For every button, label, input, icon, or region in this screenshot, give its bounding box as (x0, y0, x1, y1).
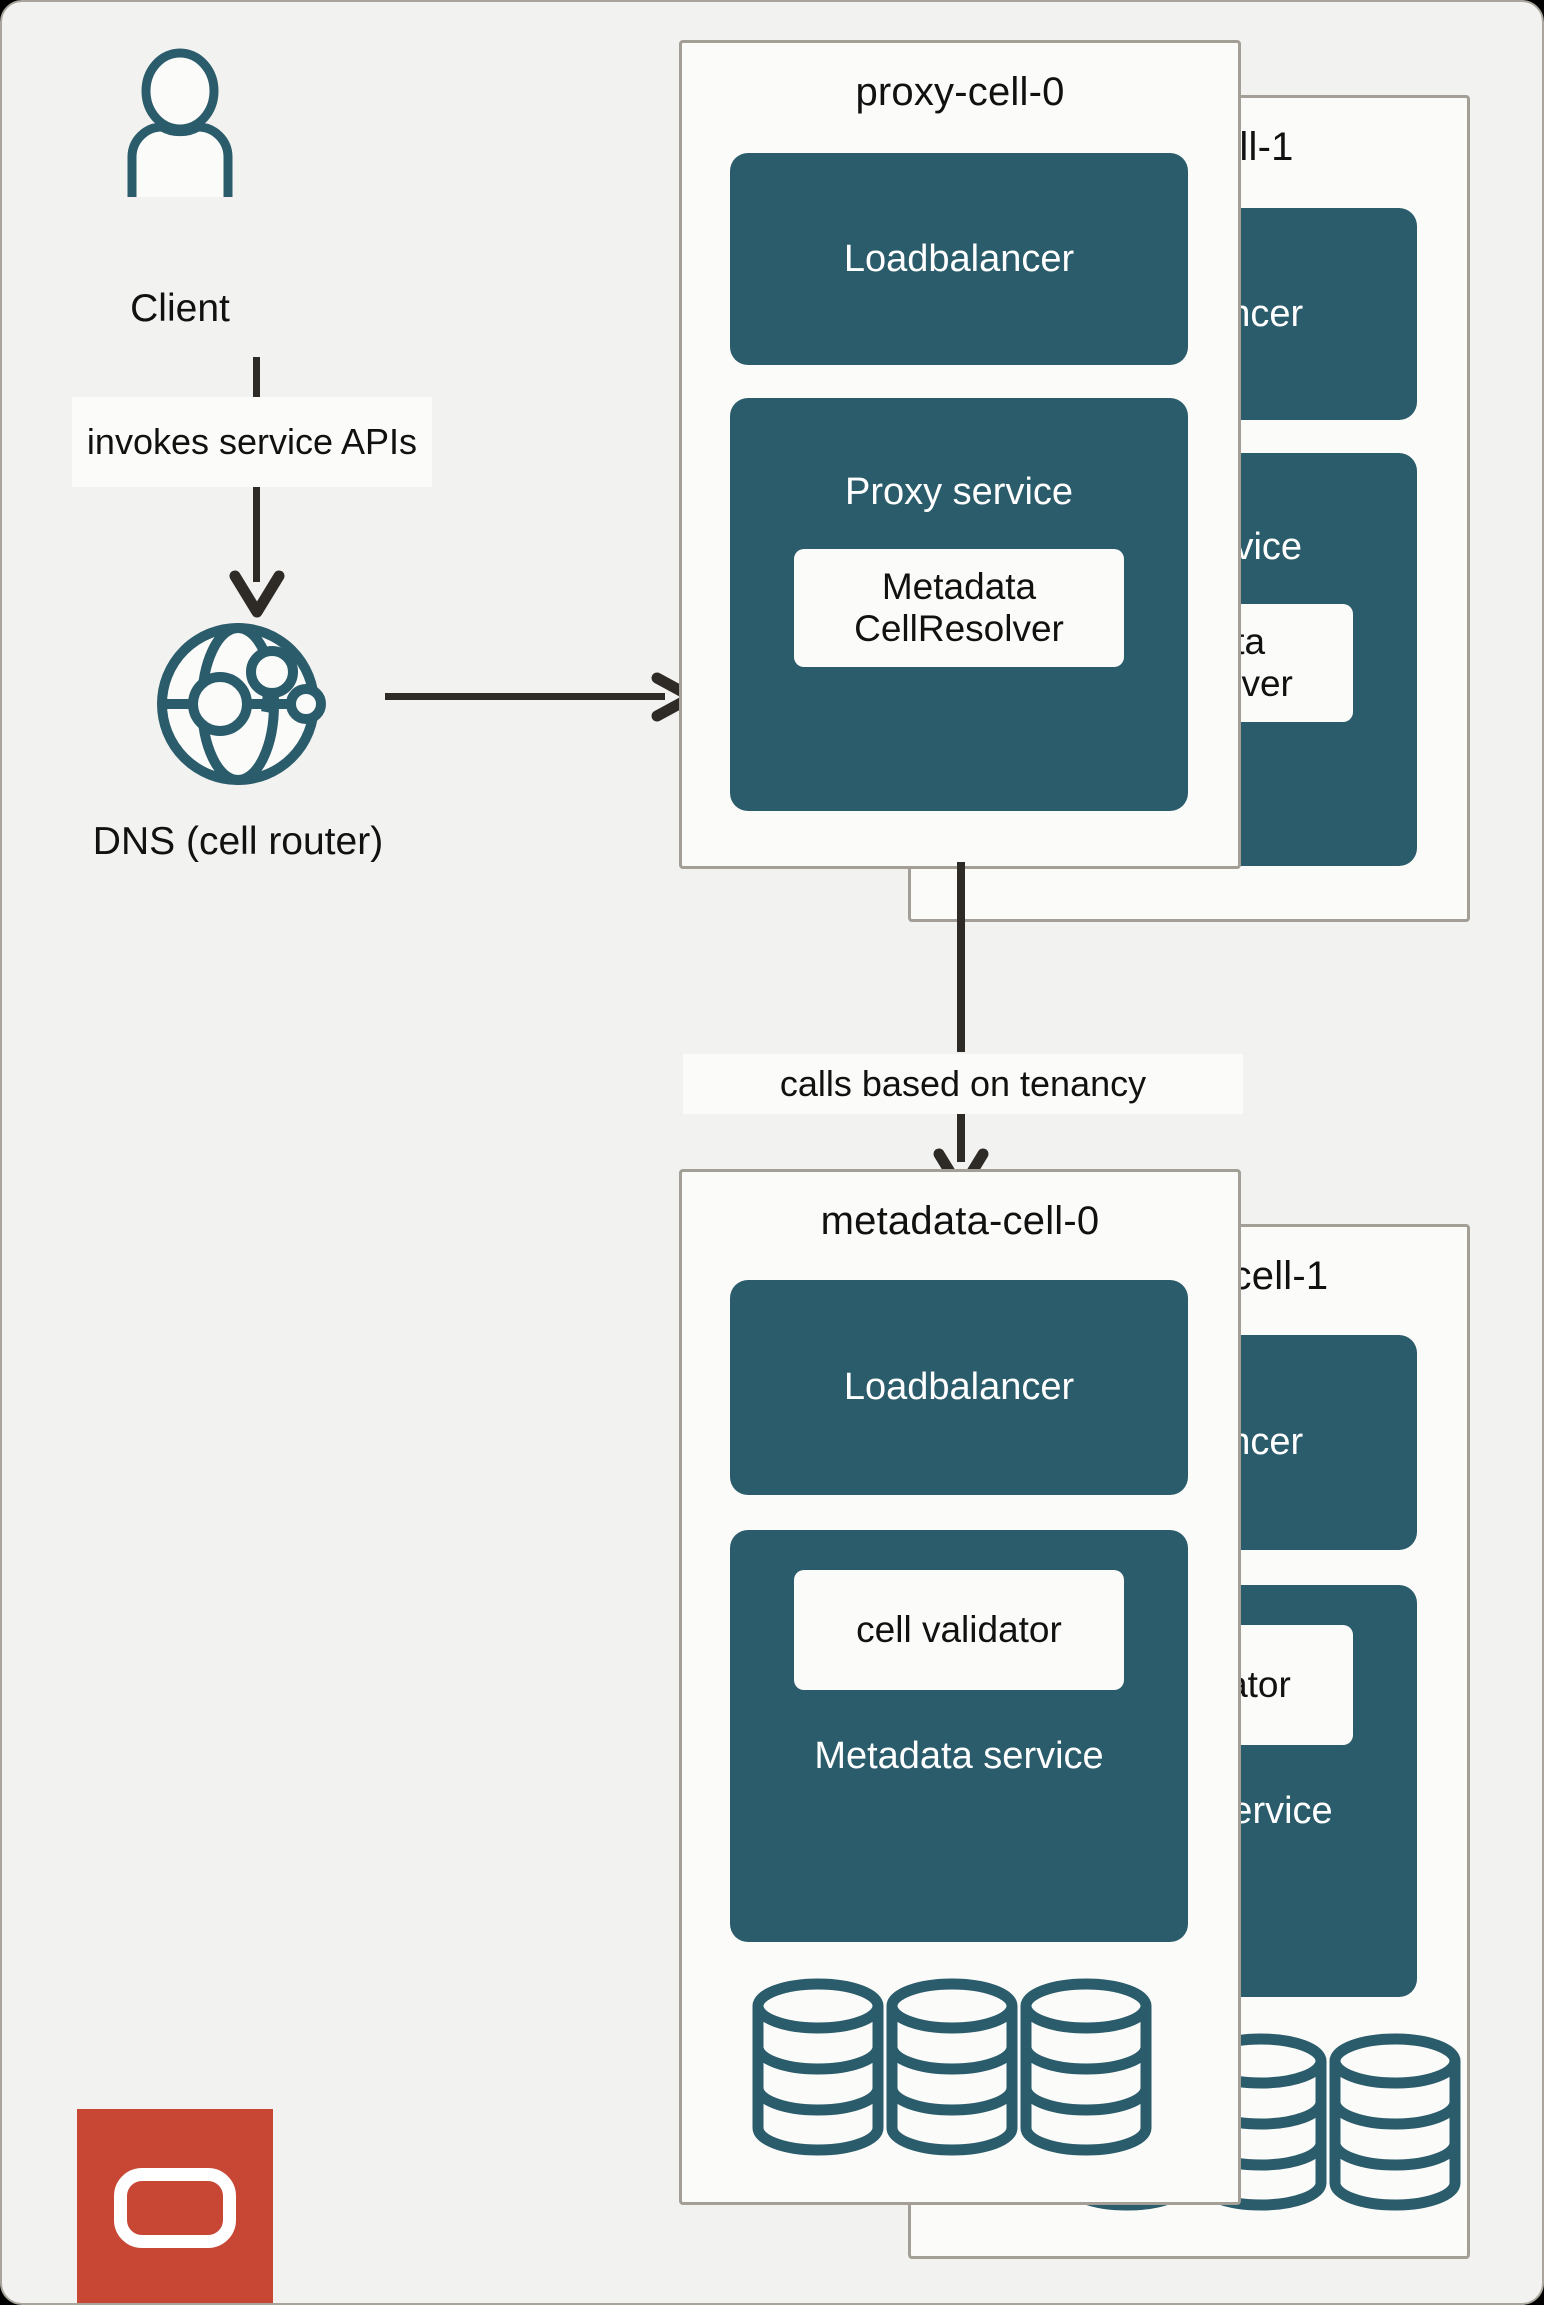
client-label: Client (50, 287, 310, 331)
client-to-dns-arrowhead (230, 572, 284, 618)
dns-to-proxy-line (385, 693, 665, 700)
metadata-cell-0-service-label: Metadata service (814, 1734, 1103, 1779)
globe-network-icon (154, 620, 322, 788)
proxy-to-meta-label: calls based on tenancy (683, 1054, 1243, 1114)
dns-label: DNS (cell router) (18, 820, 458, 864)
proxy-cell-0-proxy-service[interactable]: Proxy service Metadata CellResolver (730, 398, 1188, 811)
oracle-logo (77, 2109, 273, 2305)
client-to-dns-line-lower (253, 487, 260, 582)
metadata-cell-0-database-stack-icon (752, 1972, 1172, 2162)
diagram-canvas: Client invokes service APIs DNS (cell ro… (0, 0, 1544, 2305)
metadata-cell-0-cell-validator[interactable]: cell validator (794, 1570, 1124, 1690)
proxy-cell-0-title: proxy-cell-0 (682, 70, 1238, 115)
metadata-cell-0-loadbalancer[interactable]: Loadbalancer (730, 1280, 1188, 1495)
proxy-cell-0-box[interactable]: proxy-cell-0 Loadbalancer Proxy service … (679, 40, 1241, 869)
proxy-cell-0-service-label: Proxy service (845, 470, 1073, 515)
client-to-dns-label: invokes service APIs (72, 397, 432, 487)
metadata-cell-0-box[interactable]: metadata-cell-0 Loadbalancer cell valida… (679, 1169, 1241, 2205)
oracle-ring-icon (114, 2168, 236, 2248)
client-icon (110, 47, 250, 197)
metadata-cell-0-title: metadata-cell-0 (682, 1199, 1238, 1244)
metadata-cell-0-metadata-service[interactable]: cell validator Metadata service (730, 1530, 1188, 1942)
proxy-cell-0-loadbalancer[interactable]: Loadbalancer (730, 153, 1188, 365)
proxy-cell-0-metadata-cellresolver[interactable]: Metadata CellResolver (794, 549, 1124, 667)
proxy-to-meta-line-upper (957, 862, 965, 1052)
